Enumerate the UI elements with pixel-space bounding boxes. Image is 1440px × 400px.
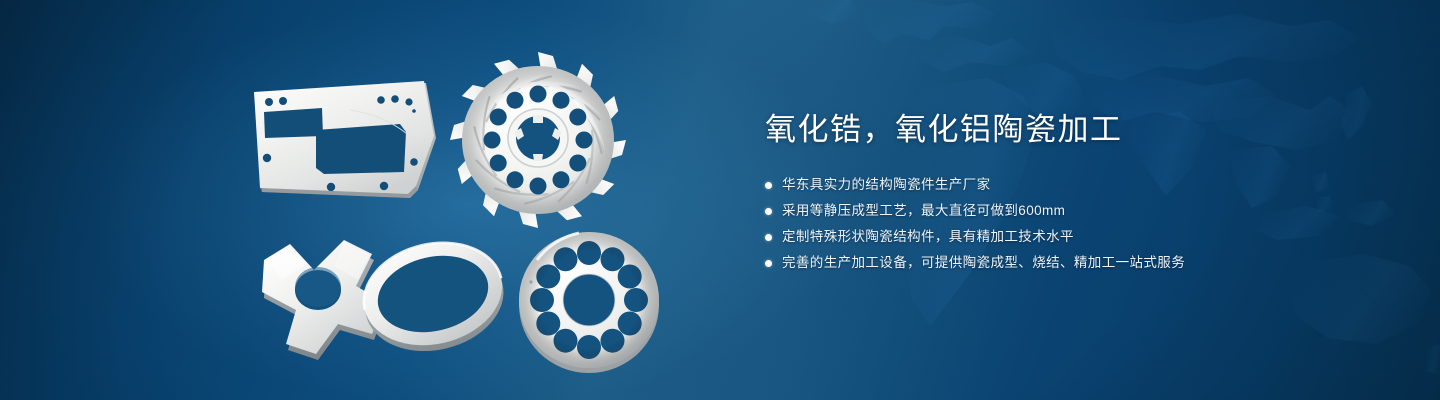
list-item: 华东具实力的结构陶瓷件生产厂家 [765,174,1385,196]
hero-headline: 氧化锆，氧化铝陶瓷加工 [765,110,1385,150]
bullet-text: 定制特殊形状陶瓷结构件，具有精加工技术水平 [782,226,1074,248]
hero-copy: 氧化锆，氧化铝陶瓷加工 华东具实力的结构陶瓷件生产厂家 采用等静压成型工艺，最大… [765,110,1385,278]
ceramic-ring [352,228,514,360]
product-photo-group [0,0,760,400]
list-item: 定制特殊形状陶瓷结构件，具有精加工技术水平 [765,226,1385,248]
bullet-dot-icon [765,208,772,215]
ceramic-impeller [448,52,628,230]
hero-banner: 氧化锆，氧化铝陶瓷加工 华东具实力的结构陶瓷件生产厂家 采用等静压成型工艺，最大… [0,0,1440,400]
ceramic-machined-plate [250,80,440,205]
list-item: 采用等静压成型工艺，最大直径可做到600mm [765,200,1385,222]
bullet-text: 采用等静压成型工艺，最大直径可做到600mm [782,200,1065,222]
bullet-text: 华东具实力的结构陶瓷件生产厂家 [782,174,991,196]
bullet-dot-icon [765,260,772,267]
bullet-dot-icon [765,182,772,189]
feature-bullet-list: 华东具实力的结构陶瓷件生产厂家 采用等静压成型工艺，最大直径可做到600mm 定… [765,174,1385,274]
ceramic-perforated-disc [512,226,667,376]
bullet-text: 完善的生产加工设备，可提供陶瓷成型、烧结、精加工一站式服务 [782,252,1185,274]
list-item: 完善的生产加工设备，可提供陶瓷成型、烧结、精加工一站式服务 [765,252,1385,274]
bullet-dot-icon [765,234,772,241]
